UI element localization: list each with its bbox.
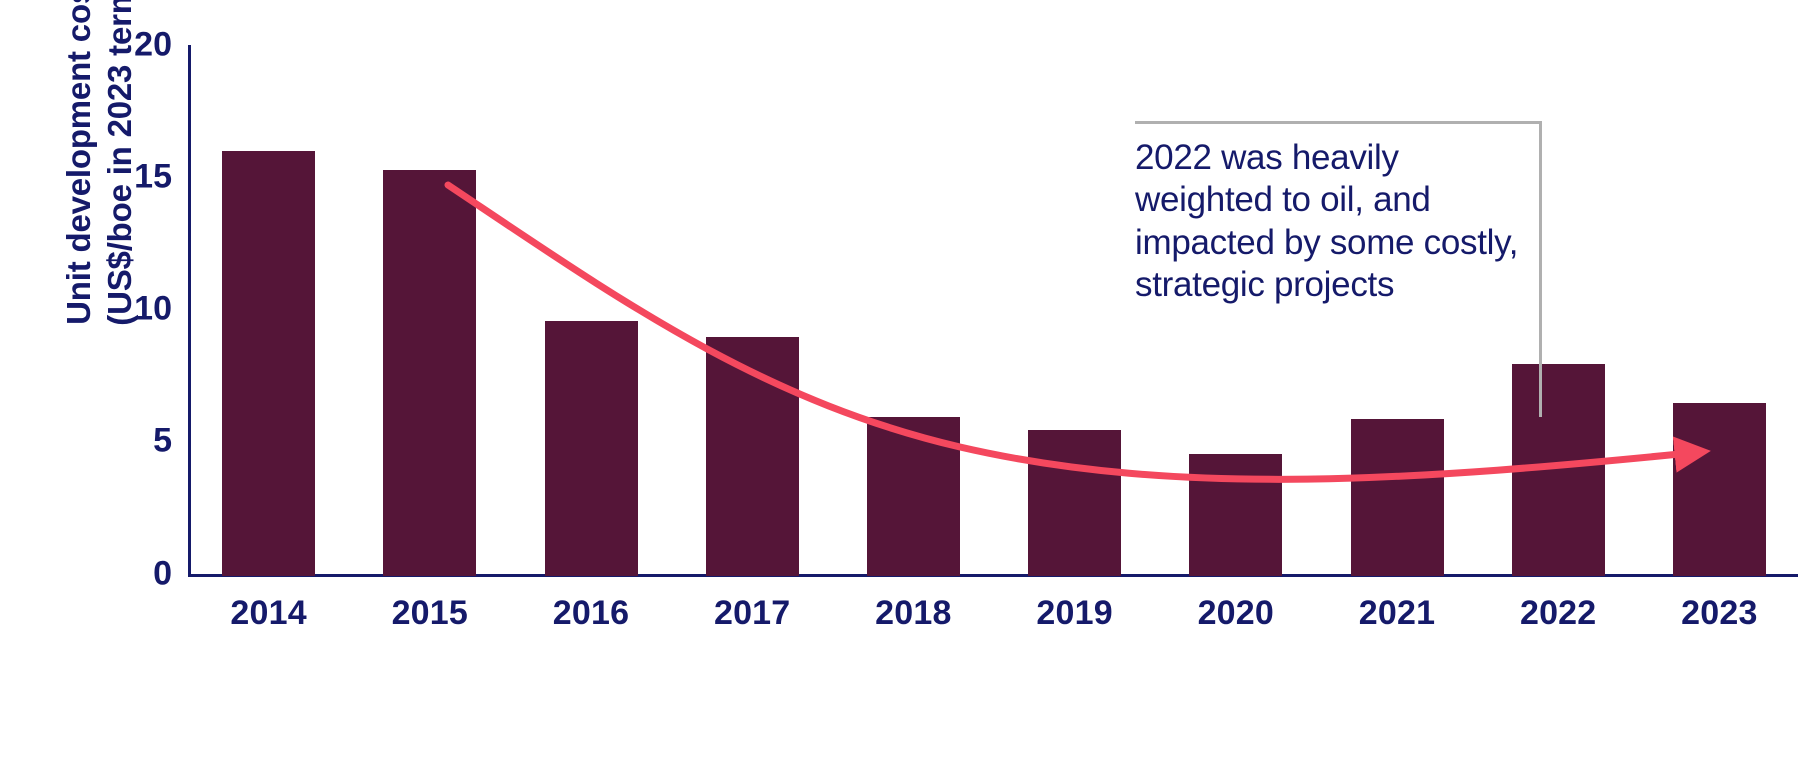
y-tick-10: 10 [102, 290, 172, 329]
bar-2014 [222, 151, 315, 576]
bar-2018 [867, 417, 960, 576]
x-tick-2019: 2019 [994, 594, 1155, 633]
bars-layer [188, 45, 1800, 576]
bar-2017 [706, 337, 799, 576]
annotation-text: 2022 was heavily weighted to oil, and im… [1135, 137, 1535, 306]
x-tick-2014: 2014 [188, 594, 349, 633]
x-tick-2020: 2020 [1155, 594, 1316, 633]
y-tick-20: 20 [102, 26, 172, 65]
x-tick-2016: 2016 [510, 594, 671, 633]
y-tick-0: 0 [102, 555, 172, 594]
bar-2022 [1512, 364, 1605, 576]
bar-2020 [1189, 454, 1282, 576]
x-tick-2018: 2018 [833, 594, 994, 633]
annotation-bracket-right [1539, 121, 1542, 417]
x-tick-2021: 2021 [1316, 594, 1477, 633]
y-tick-15: 15 [102, 158, 172, 197]
x-tick-2022: 2022 [1478, 594, 1639, 633]
bar-2023 [1673, 403, 1766, 576]
bar-chart: Unit development costs (US$/boe in 2023 … [0, 0, 1800, 772]
x-tick-2023: 2023 [1639, 594, 1800, 633]
bar-2016 [545, 321, 638, 576]
bar-2015 [383, 170, 476, 576]
bar-2021 [1351, 419, 1444, 576]
y-axis-ticks: 0 5 10 15 20 [100, 0, 172, 620]
annotation-bracket-top [1135, 121, 1542, 124]
x-tick-2017: 2017 [672, 594, 833, 633]
x-tick-2015: 2015 [349, 594, 510, 633]
y-tick-5: 5 [102, 422, 172, 461]
bar-2019 [1028, 430, 1121, 576]
